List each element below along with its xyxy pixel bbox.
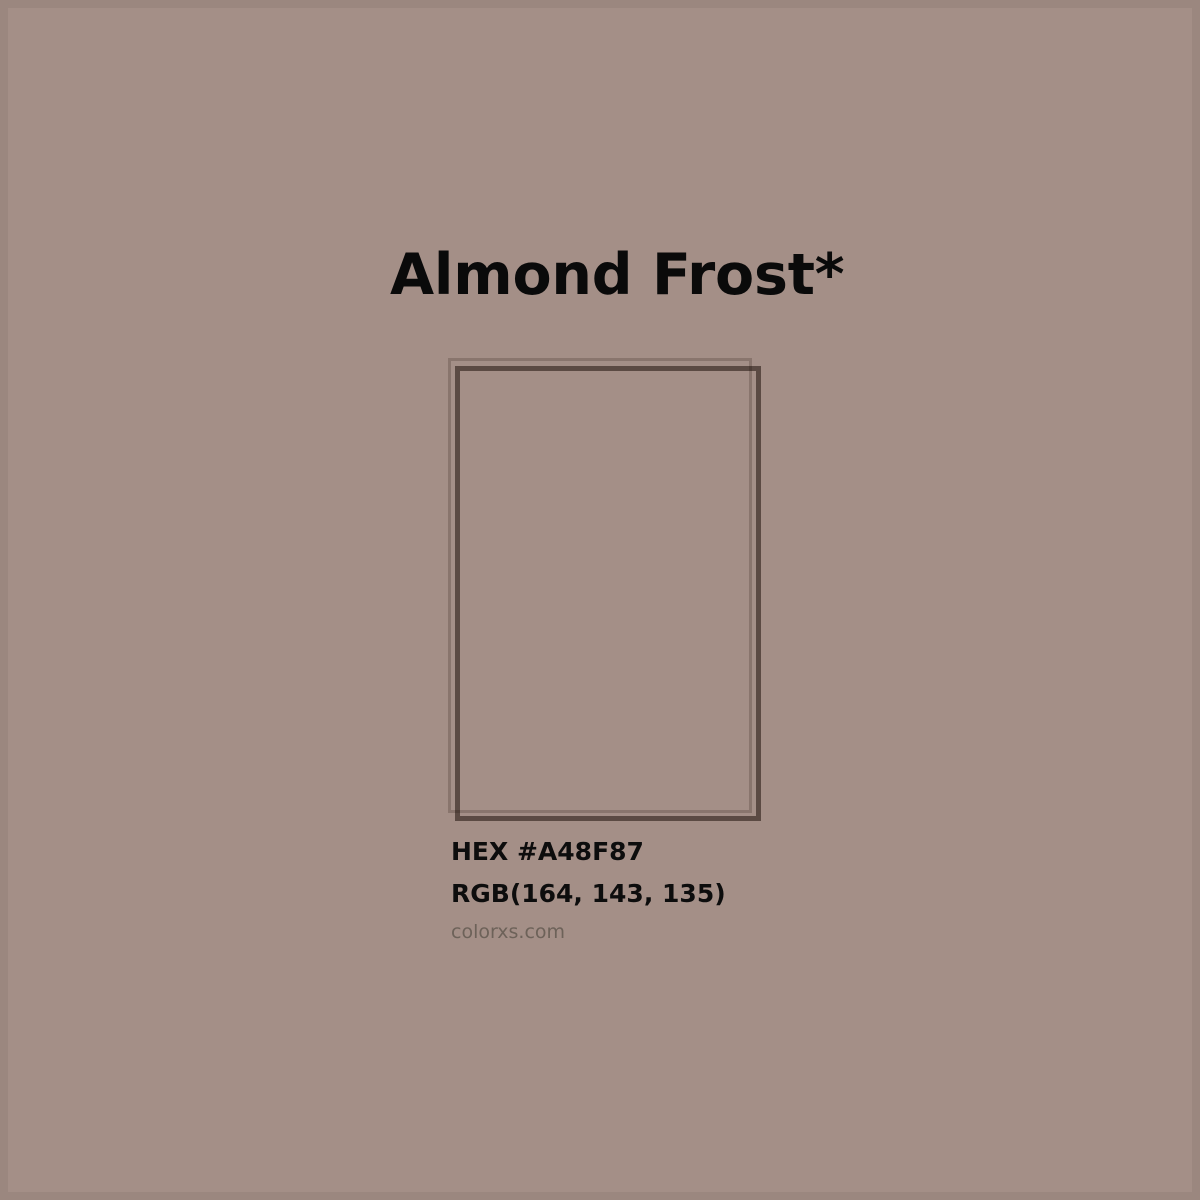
swatch-outline-front <box>455 366 761 821</box>
color-swatch <box>0 0 1200 1200</box>
rgb-value-label: RGB(164, 143, 135) <box>451 876 1051 912</box>
hex-value-label: HEX #A48F87 <box>451 834 1051 870</box>
color-info-block: HEX #A48F87 RGB(164, 143, 135) colorxs.c… <box>451 834 1051 946</box>
color-card-page: Almond Frost* HEX #A48F87 RGB(164, 143, … <box>0 0 1200 1200</box>
source-watermark: colorxs.com <box>451 918 1051 946</box>
